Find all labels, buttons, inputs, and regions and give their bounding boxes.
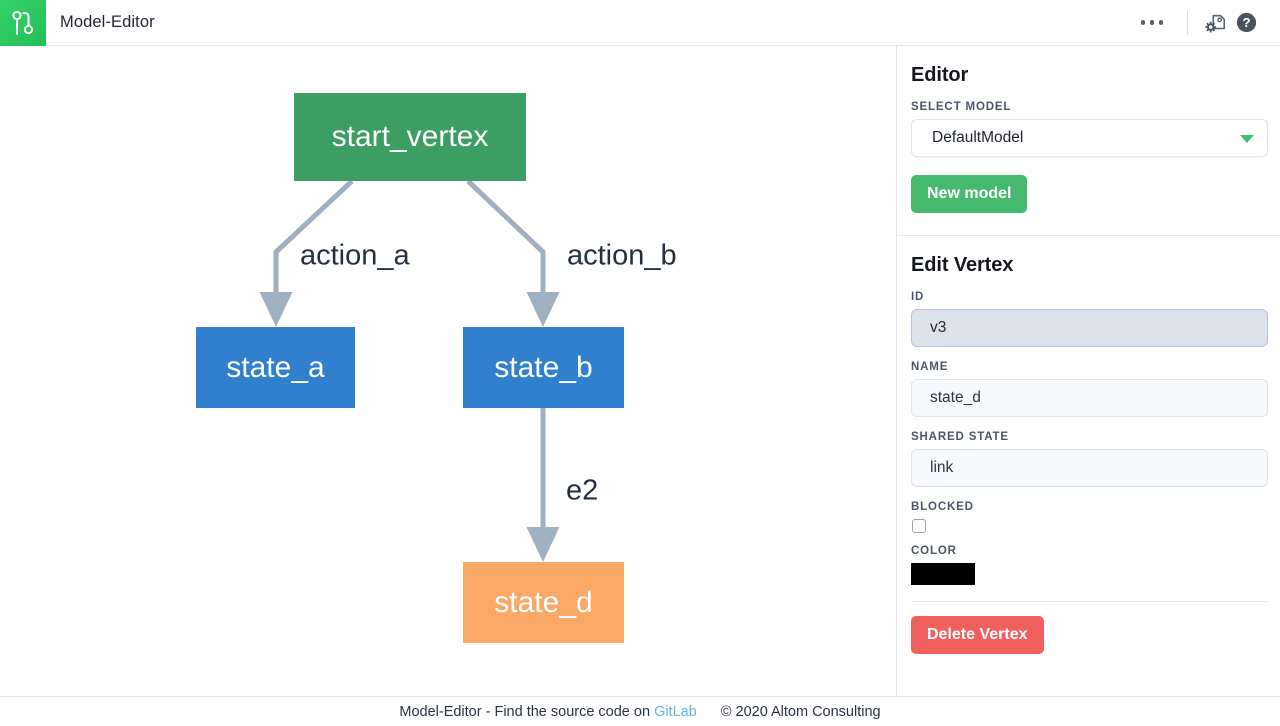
- edge-label-e0: action_a: [300, 240, 411, 272]
- ellipsis-dot: [1141, 20, 1146, 25]
- ellipsis-icon[interactable]: [1129, 12, 1176, 33]
- toolbar-divider: [1187, 11, 1188, 35]
- footer-copyright: © 2020 Altom Consulting: [721, 704, 881, 720]
- ellipsis-dot: [1159, 20, 1164, 25]
- editor-title: Editor: [911, 64, 1266, 87]
- vertex-color-swatch[interactable]: [911, 563, 975, 585]
- node-label: state_d: [494, 586, 592, 619]
- configure-document-icon[interactable]: [1202, 9, 1230, 37]
- model-select-value[interactable]: DefaultModel: [911, 119, 1268, 157]
- edit-vertex-title: Edit Vertex: [911, 254, 1266, 277]
- svg-text:?: ?: [1242, 15, 1250, 30]
- delete-vertex-button[interactable]: Delete Vertex: [911, 616, 1044, 654]
- node-label: state_a: [226, 351, 325, 384]
- top-bar: Model-Editor: [0, 0, 1280, 46]
- graph-node-v1[interactable]: state_a: [196, 327, 355, 408]
- edit-vertex-section: Edit Vertex ID NAME SHARED STATE BLOCKED…: [897, 236, 1280, 674]
- vertex-shared-state-input[interactable]: [911, 449, 1268, 487]
- app-root: Model-Editor: [0, 0, 1280, 726]
- select-model-label: SELECT MODEL: [911, 101, 1266, 113]
- ellipsis-dot: [1150, 20, 1155, 25]
- model-select[interactable]: DefaultModel: [911, 119, 1268, 157]
- node-label: state_b: [494, 351, 592, 384]
- vertex-blocked-label: BLOCKED: [911, 501, 1266, 513]
- vertex-shared-state-label: SHARED STATE: [911, 431, 1266, 443]
- editor-section: Editor SELECT MODEL DefaultModel New mod…: [897, 46, 1280, 235]
- vertex-id-label: ID: [911, 291, 1266, 303]
- app-title: Model-Editor: [60, 13, 155, 32]
- graph-node-v2[interactable]: state_b: [463, 327, 624, 408]
- git-branch-icon: [11, 10, 35, 36]
- panel-rule: [911, 601, 1268, 602]
- footer-credit: Model-Editor - Find the source code on G…: [399, 704, 696, 720]
- vertex-color-label: COLOR: [911, 545, 1266, 557]
- graph-canvas[interactable]: start_vertex state_a state_b state_d act…: [0, 46, 896, 696]
- top-bar-actions: ?: [1129, 9, 1280, 37]
- footer: Model-Editor - Find the source code on G…: [0, 696, 1280, 726]
- app-logo[interactable]: [0, 0, 46, 46]
- vertex-blocked-checkbox[interactable]: [912, 519, 926, 533]
- side-panel: Editor SELECT MODEL DefaultModel New mod…: [896, 46, 1280, 696]
- footer-text: Model-Editor - Find the source code on: [399, 704, 650, 720]
- graph-svg: start_vertex state_a state_b state_d act…: [0, 46, 896, 696]
- new-model-button[interactable]: New model: [911, 175, 1027, 213]
- graph-node-v3[interactable]: state_d: [463, 562, 624, 643]
- vertex-name-input[interactable]: [911, 379, 1268, 417]
- edge-label-e2: e2: [566, 475, 598, 507]
- vertex-name-label: NAME: [911, 361, 1266, 373]
- graph-node-v0[interactable]: start_vertex: [294, 93, 526, 181]
- node-label: start_vertex: [332, 120, 489, 153]
- vertex-id-input[interactable]: [911, 309, 1268, 347]
- edge-label-e1: action_b: [567, 240, 677, 272]
- edge-e1[interactable]: [468, 181, 543, 308]
- gitlab-link[interactable]: GitLab: [654, 704, 697, 720]
- help-circle-icon[interactable]: ?: [1232, 9, 1260, 37]
